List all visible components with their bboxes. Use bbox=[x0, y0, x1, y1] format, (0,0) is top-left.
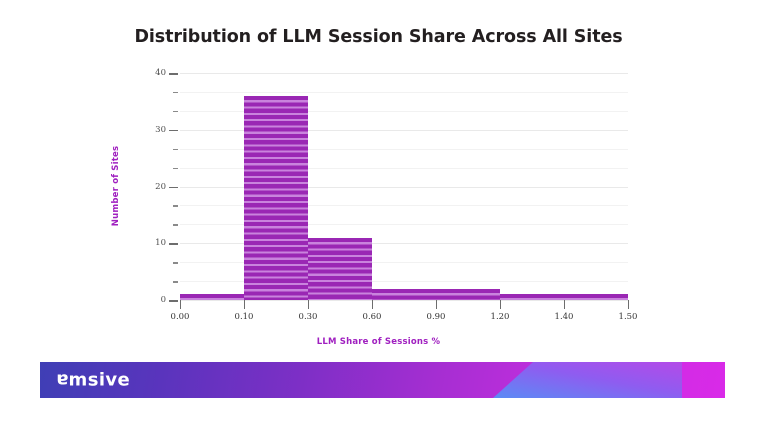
y-tick-minor bbox=[173, 262, 178, 264]
x-tick-label: 0.10 bbox=[235, 312, 254, 322]
x-tick bbox=[436, 300, 437, 309]
y-tick-label: 30 bbox=[155, 125, 166, 135]
x-tick-label: 0.00 bbox=[171, 312, 190, 322]
y-tick-label: 10 bbox=[155, 238, 166, 248]
x-tick-label: 0.30 bbox=[299, 312, 318, 322]
bar bbox=[308, 238, 372, 300]
gridline-major bbox=[180, 73, 628, 74]
plot-area: 010203040 bbox=[180, 73, 628, 300]
y-tick-minor bbox=[173, 281, 178, 283]
y-tick-label: 0 bbox=[161, 295, 166, 305]
x-tick-label: 1.50 bbox=[619, 312, 638, 322]
x-tick bbox=[372, 300, 373, 309]
footer-banner: amsive bbox=[40, 362, 725, 398]
amsive-logo: amsive bbox=[56, 370, 130, 391]
y-axis-title: Number of Sites bbox=[111, 146, 121, 226]
chart-title: Distribution of LLM Session Share Across… bbox=[0, 27, 757, 47]
bar bbox=[180, 294, 244, 300]
y-tick-minor bbox=[173, 149, 178, 151]
bar bbox=[372, 289, 436, 300]
y-tick-major bbox=[169, 243, 178, 245]
y-tick-major bbox=[169, 73, 178, 75]
footer-wedge-decoration bbox=[40, 362, 725, 398]
x-tick bbox=[180, 300, 181, 309]
y-tick-minor bbox=[173, 205, 178, 207]
bar bbox=[436, 289, 500, 300]
y-tick-minor bbox=[173, 92, 178, 94]
logo-rotated-a: a bbox=[56, 370, 69, 391]
bar bbox=[244, 96, 308, 300]
logo-text-rest: msive bbox=[69, 370, 131, 391]
bar bbox=[500, 294, 564, 300]
x-tick-label: 1.40 bbox=[555, 312, 574, 322]
chart-card: Distribution of LLM Session Share Across… bbox=[0, 0, 757, 358]
y-tick-major bbox=[169, 187, 178, 189]
y-tick-major bbox=[169, 300, 178, 302]
bar bbox=[564, 294, 628, 300]
x-tick bbox=[500, 300, 501, 309]
y-tick-minor bbox=[173, 224, 178, 226]
y-tick-minor bbox=[173, 111, 178, 113]
y-tick-minor bbox=[173, 168, 178, 170]
x-tick bbox=[564, 300, 565, 309]
x-axis-title: LLM Share of Sessions % bbox=[0, 337, 757, 347]
y-tick-label: 40 bbox=[155, 68, 166, 78]
x-tick bbox=[308, 300, 309, 309]
x-tick bbox=[244, 300, 245, 309]
x-tick-label: 1.20 bbox=[491, 312, 510, 322]
y-tick-label: 20 bbox=[155, 182, 166, 192]
gridline-minor bbox=[180, 92, 628, 93]
x-tick bbox=[628, 300, 629, 309]
x-tick-label: 0.60 bbox=[363, 312, 382, 322]
y-tick-major bbox=[169, 130, 178, 132]
x-tick-label: 0.90 bbox=[427, 312, 446, 322]
gridline-major bbox=[180, 300, 628, 301]
